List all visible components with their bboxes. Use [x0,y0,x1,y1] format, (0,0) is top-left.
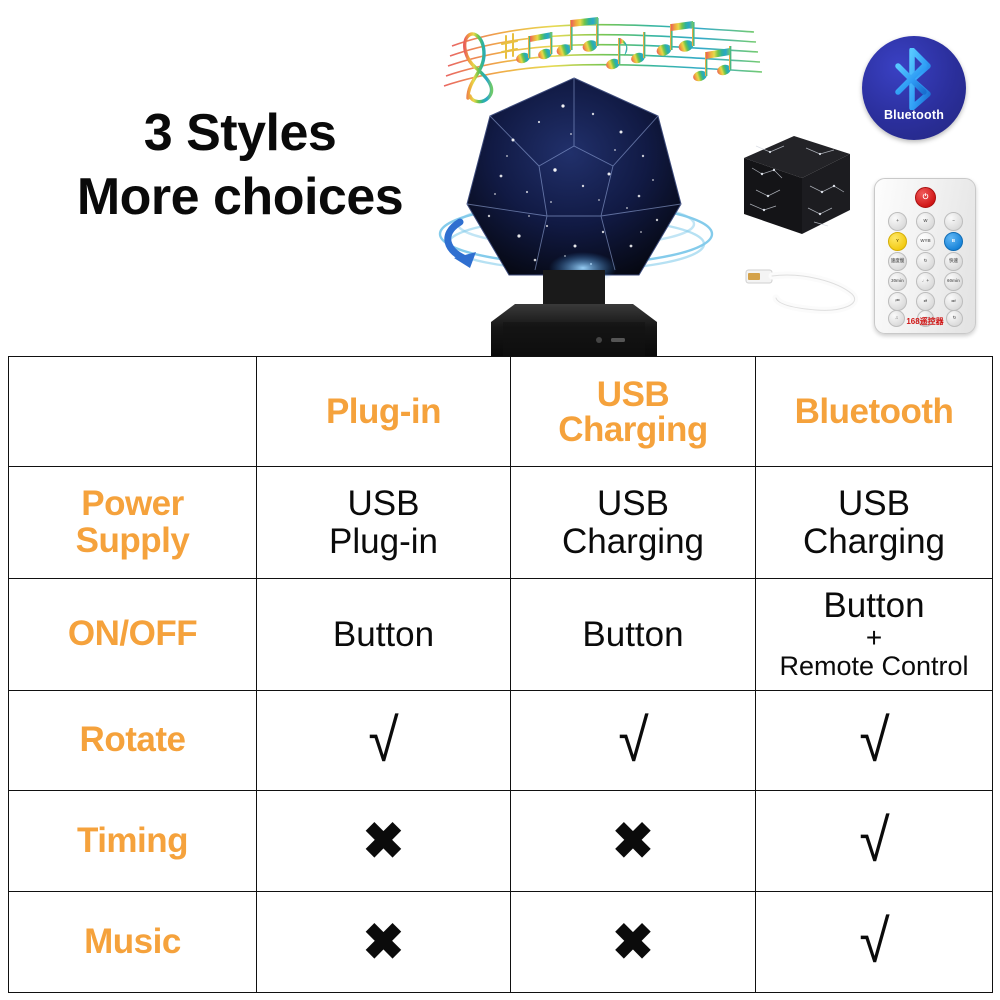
check-icon: √ [859,912,889,972]
cell-timing-usb-charging: ✖ [511,791,756,892]
headline-line-2: More choices [40,168,440,226]
check-icon: √ [368,711,398,771]
table-row: ON/OFF Button Button Button + Remote Con… [9,579,993,691]
cell-music-usb-charging: ✖ [511,892,756,993]
cell-power-supply-bluetooth: USB Charging [756,467,993,579]
row-label-music: Music [9,892,257,993]
cell-timing-plugin: ✖ [257,791,511,892]
check-icon: √ [859,711,889,771]
remote-previous-button[interactable]: ⏮ [888,292,907,311]
remote-next-button[interactable]: ⏭ [944,292,963,311]
remote-speed-up-button[interactable]: 快速 [944,252,963,271]
remote-model-label: 168遥控器 [875,316,975,327]
star-projector-lamp [443,70,705,356]
remote-power-button[interactable]: ⏻ [915,187,936,208]
row-label-on-off: ON/OFF [9,579,257,691]
header-cell-bluetooth: Bluetooth [756,357,993,467]
cell-rotate-usb-charging: √ [511,691,756,791]
cell-on-off-usb-charging: Button [511,579,756,691]
gift-box [736,130,858,242]
remote-y-button[interactable]: Y [888,232,907,251]
cell-timing-bluetooth: √ [756,791,993,892]
remote-plus-button[interactable]: + [888,212,907,231]
remote-b-button[interactable]: B [944,232,963,251]
comparison-table-container: Plug-in USB Charging Bluetooth Power Sup… [8,356,992,992]
remote-rotate-button[interactable]: ↻ [916,252,935,271]
cell-music-plugin: ✖ [257,892,511,993]
cross-icon: ✖ [612,816,654,866]
remote-wyb-button[interactable]: WYB [916,232,935,251]
cross-icon: ✖ [363,917,405,967]
cross-icon: ✖ [363,816,405,866]
product-hero: 3 Styles More choices [0,0,1000,356]
check-icon: √ [618,711,648,771]
usb-cable [742,248,872,318]
remote-minus-button[interactable]: − [944,212,963,231]
table-row: Rotate √ √ √ [9,691,993,791]
bluetooth-badge: Bluetooth [862,36,966,140]
header-cell-usb-charging: USB Charging [511,357,756,467]
cell-rotate-plugin: √ [257,691,511,791]
table-row: Power Supply USB Plug-in USB Charging US… [9,467,993,579]
header-cell-empty [9,357,257,467]
table-row: Music ✖ ✖ √ [9,892,993,993]
bluetooth-icon [890,48,938,110]
comparison-table: Plug-in USB Charging Bluetooth Power Sup… [8,356,993,993]
headline-line-1: 3 Styles [40,104,440,162]
cell-music-bluetooth: √ [756,892,993,993]
cell-on-off-bluetooth: Button + Remote Control [756,579,993,691]
remote-volume-up-button[interactable]: ♩+ [916,272,935,291]
cell-rotate-bluetooth: √ [756,691,993,791]
headline: 3 Styles More choices [40,104,440,226]
remote-w-button[interactable]: W [916,212,935,231]
cell-power-supply-usb-charging: USB Charging [511,467,756,579]
remote-timer-60-button[interactable]: 60min [944,272,963,291]
row-label-timing: Timing [9,791,257,892]
cross-icon: ✖ [612,917,654,967]
row-label-power-supply: Power Supply [9,467,257,579]
header-cell-plugin: Plug-in [257,357,511,467]
remote-speed-down-button[interactable]: 速度慢 [888,252,907,271]
remote-timer-30-button[interactable]: 30min [888,272,907,291]
table-row: Timing ✖ ✖ √ [9,791,993,892]
row-label-rotate: Rotate [9,691,257,791]
cell-power-supply-plugin: USB Plug-in [257,467,511,579]
cell-on-off-plugin: Button [257,579,511,691]
remote-control: ⏻ + W − Y WYB B 速度慢 ↻ 快速 30min ♩+ 60min … [874,178,976,334]
remote-play-pause-button[interactable]: ⏯ [916,292,935,311]
check-icon: √ [859,811,889,871]
table-header-row: Plug-in USB Charging Bluetooth [9,357,993,467]
bluetooth-badge-label: Bluetooth [862,108,966,122]
